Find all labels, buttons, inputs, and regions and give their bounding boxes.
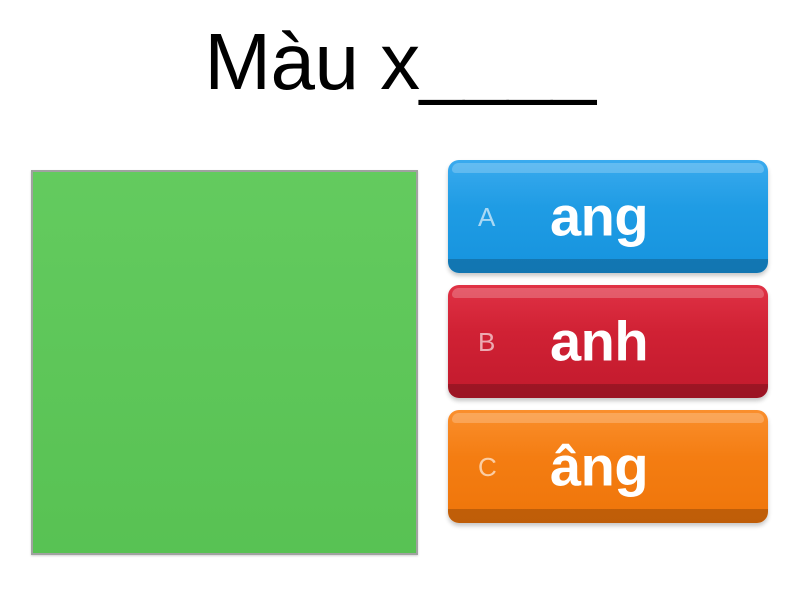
answer-option-a[interactable]: A ang xyxy=(448,160,768,273)
answer-text-b: anh xyxy=(448,312,768,371)
answer-text-a: ang xyxy=(448,187,768,246)
answer-option-b[interactable]: B anh xyxy=(448,285,768,398)
answer-option-c[interactable]: C âng xyxy=(448,410,768,523)
answer-text-c: âng xyxy=(448,437,768,496)
answer-options-list: A ang B anh C âng xyxy=(448,160,770,523)
page-title: Màu x____ xyxy=(0,22,800,102)
quiz-stage: A ang B anh C âng xyxy=(0,160,800,580)
question-image xyxy=(31,170,418,555)
green-color-swatch xyxy=(33,172,416,553)
